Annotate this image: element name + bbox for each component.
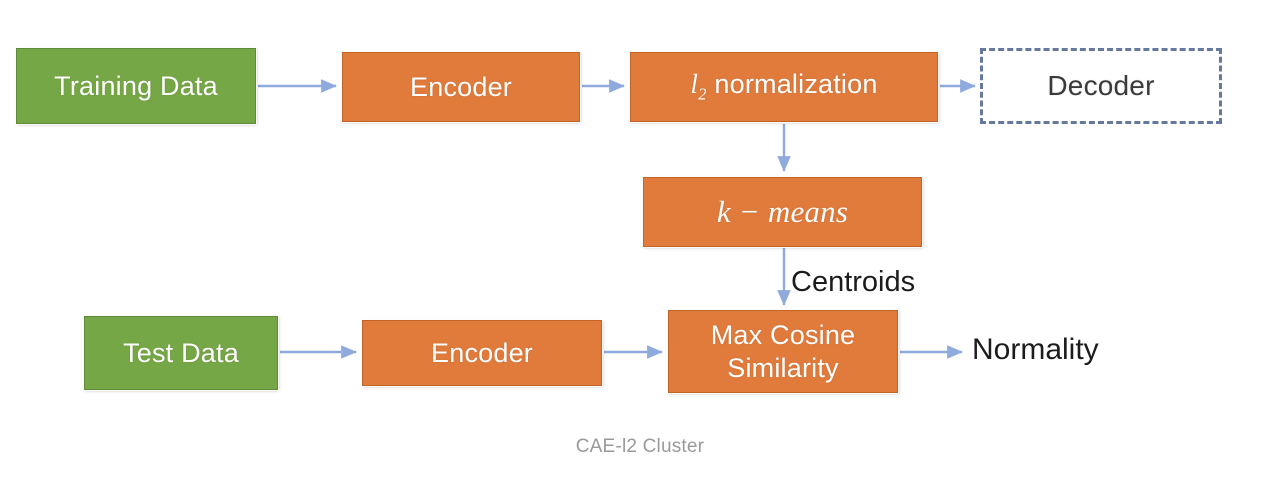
- node-max-cosine-similarity[interactable]: Max Cosine Similarity: [668, 310, 898, 393]
- l2-normalization-word: normalization: [707, 69, 878, 99]
- node-encoder-top-label: Encoder: [410, 72, 512, 102]
- node-encoder-top[interactable]: Encoder: [342, 52, 580, 122]
- max-cosine-line-1: Max Cosine: [711, 320, 856, 350]
- node-test-data[interactable]: Test Data: [84, 316, 278, 390]
- node-encoder-bottom-label: Encoder: [431, 338, 533, 368]
- node-decoder[interactable]: Decoder: [980, 48, 1222, 124]
- diagram-canvas: Training Data Encoder l2 normalization D…: [0, 0, 1280, 484]
- output-label-normality: Normality: [972, 333, 1099, 367]
- node-test-data-label: Test Data: [123, 338, 239, 368]
- node-training-data[interactable]: Training Data: [16, 48, 256, 124]
- node-training-data-label: Training Data: [54, 71, 218, 101]
- node-encoder-bottom[interactable]: Encoder: [362, 320, 602, 386]
- node-k-means[interactable]: k − means: [643, 177, 922, 247]
- diagram-caption: CAE-l2 Cluster: [0, 436, 1280, 458]
- edge-label-centroids: Centroids: [791, 266, 915, 299]
- node-max-cosine-similarity-label: Max Cosine Similarity: [711, 319, 856, 385]
- l2-symbol: l2: [690, 69, 706, 99]
- node-l2-normalization[interactable]: l2 normalization: [630, 52, 938, 122]
- node-decoder-label: Decoder: [1047, 70, 1154, 101]
- max-cosine-line-2: Similarity: [727, 353, 839, 383]
- node-l2-normalization-label: l2 normalization: [690, 69, 877, 104]
- node-k-means-label: k − means: [717, 195, 848, 230]
